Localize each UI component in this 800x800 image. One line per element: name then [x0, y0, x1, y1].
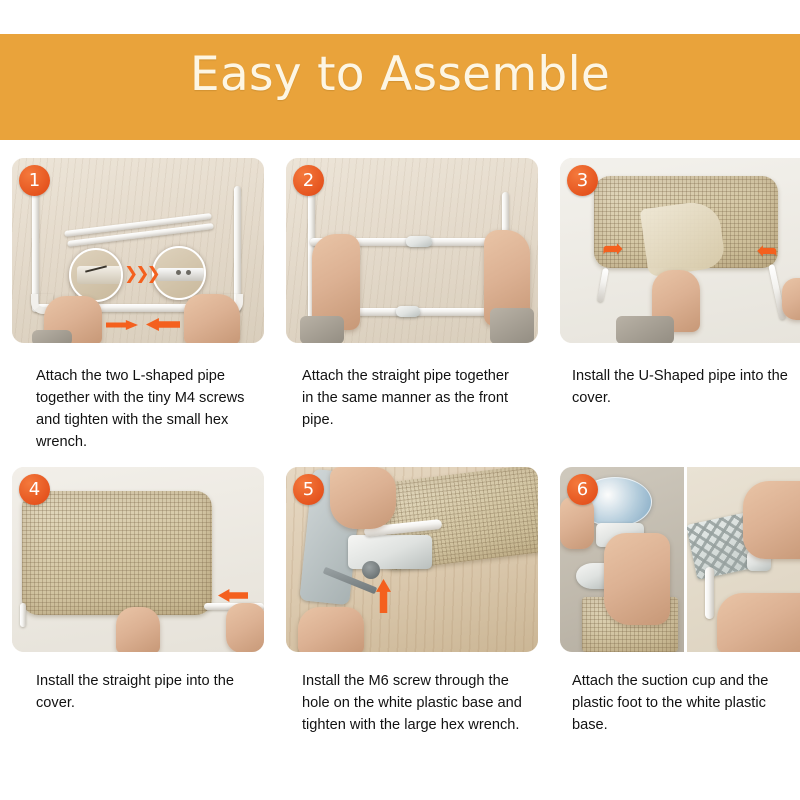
step-badge-2: 2: [293, 165, 324, 196]
step-image-6: 6: [560, 467, 800, 652]
step-caption-4: Install the straight pipe into the cover…: [36, 670, 251, 714]
step-image-4: 4: [12, 467, 264, 652]
pipe-joint-connector-bottom: [396, 306, 420, 317]
hand-right: [184, 294, 240, 343]
hand-left: [116, 607, 160, 652]
step-caption-2: Attach the straight pipe together in the…: [302, 365, 524, 431]
step-badge-1: 1: [19, 165, 50, 196]
sleeve-left: [616, 316, 674, 343]
hand-supporting: [560, 497, 594, 549]
mesh-flap: [640, 199, 727, 277]
hand-right: [226, 603, 264, 652]
pipe-left-vertical: [32, 184, 39, 312]
step-card-2: 2 Attach the straight pipe together in t…: [286, 158, 538, 453]
assembly-instructions-page: Easy to Assemble: [0, 0, 800, 800]
chevrons-right-icon: ❯❯❯: [124, 266, 158, 283]
hand-bottom-right: [717, 593, 800, 652]
step-card-3: ➦ ➦ 3 Install the U-Shaped pipe into the…: [560, 158, 800, 453]
step-image-3: ➦ ➦ 3: [560, 158, 800, 343]
inset-closeup-right: [152, 246, 206, 300]
step-badge-4: 4: [19, 474, 50, 505]
step-image-2: 2: [286, 158, 538, 343]
white-plastic-base: [348, 535, 432, 569]
step-image-5: 5: [286, 467, 538, 652]
curved-arrow-left-icon: ➦: [602, 236, 624, 262]
page-title: Easy to Assemble: [0, 46, 800, 104]
pipe-vertical: [705, 567, 714, 619]
hand-top: [330, 467, 396, 529]
m6-screw-head: [362, 561, 380, 579]
sleeve-left: [32, 330, 72, 343]
step-card-1: ❯❯❯ 1 Attach the two L-shaped pipe toget…: [12, 158, 264, 453]
steps-grid: ❯❯❯ 1 Attach the two L-shaped pipe toget…: [0, 158, 800, 736]
step-caption-3: Install the U-Shaped pipe into the cover…: [572, 365, 800, 409]
pipe-joint-connector-top: [406, 236, 432, 247]
hand-pressing-suction-cup: [604, 533, 670, 625]
step-badge-3: 3: [567, 165, 598, 196]
step-image-1: ❯❯❯ 1: [12, 158, 264, 343]
hand-holding-pipe: [782, 278, 800, 320]
inset-closeup-left: [69, 248, 123, 302]
step-badge-5: 5: [293, 474, 324, 505]
step-caption-5: Install the M6 screw through the hole on…: [302, 670, 524, 736]
sleeve-left: [300, 316, 344, 343]
step-card-4: 4 Install the straight pipe into the cov…: [12, 467, 264, 736]
step6-right-photo: [687, 467, 800, 652]
step-card-5: 5 Install the M6 screw through the hole …: [286, 467, 538, 736]
hand-top-right: [743, 481, 800, 559]
pipe-corner-stub: [20, 603, 26, 627]
step-caption-1: Attach the two L-shaped pipe together wi…: [36, 365, 251, 453]
step-card-6: 6 Attach the suction cup and the plastic…: [560, 467, 800, 736]
sleeve-right: [490, 308, 534, 343]
header-banner: Easy to Assemble: [0, 0, 800, 140]
curved-arrow-right-icon: ➦: [756, 238, 778, 264]
step-badge-6: 6: [567, 474, 598, 505]
mesh-cover: [22, 491, 212, 615]
step-caption-6: Attach the suction cup and the plastic f…: [572, 670, 800, 736]
hand-bottom: [298, 607, 364, 652]
